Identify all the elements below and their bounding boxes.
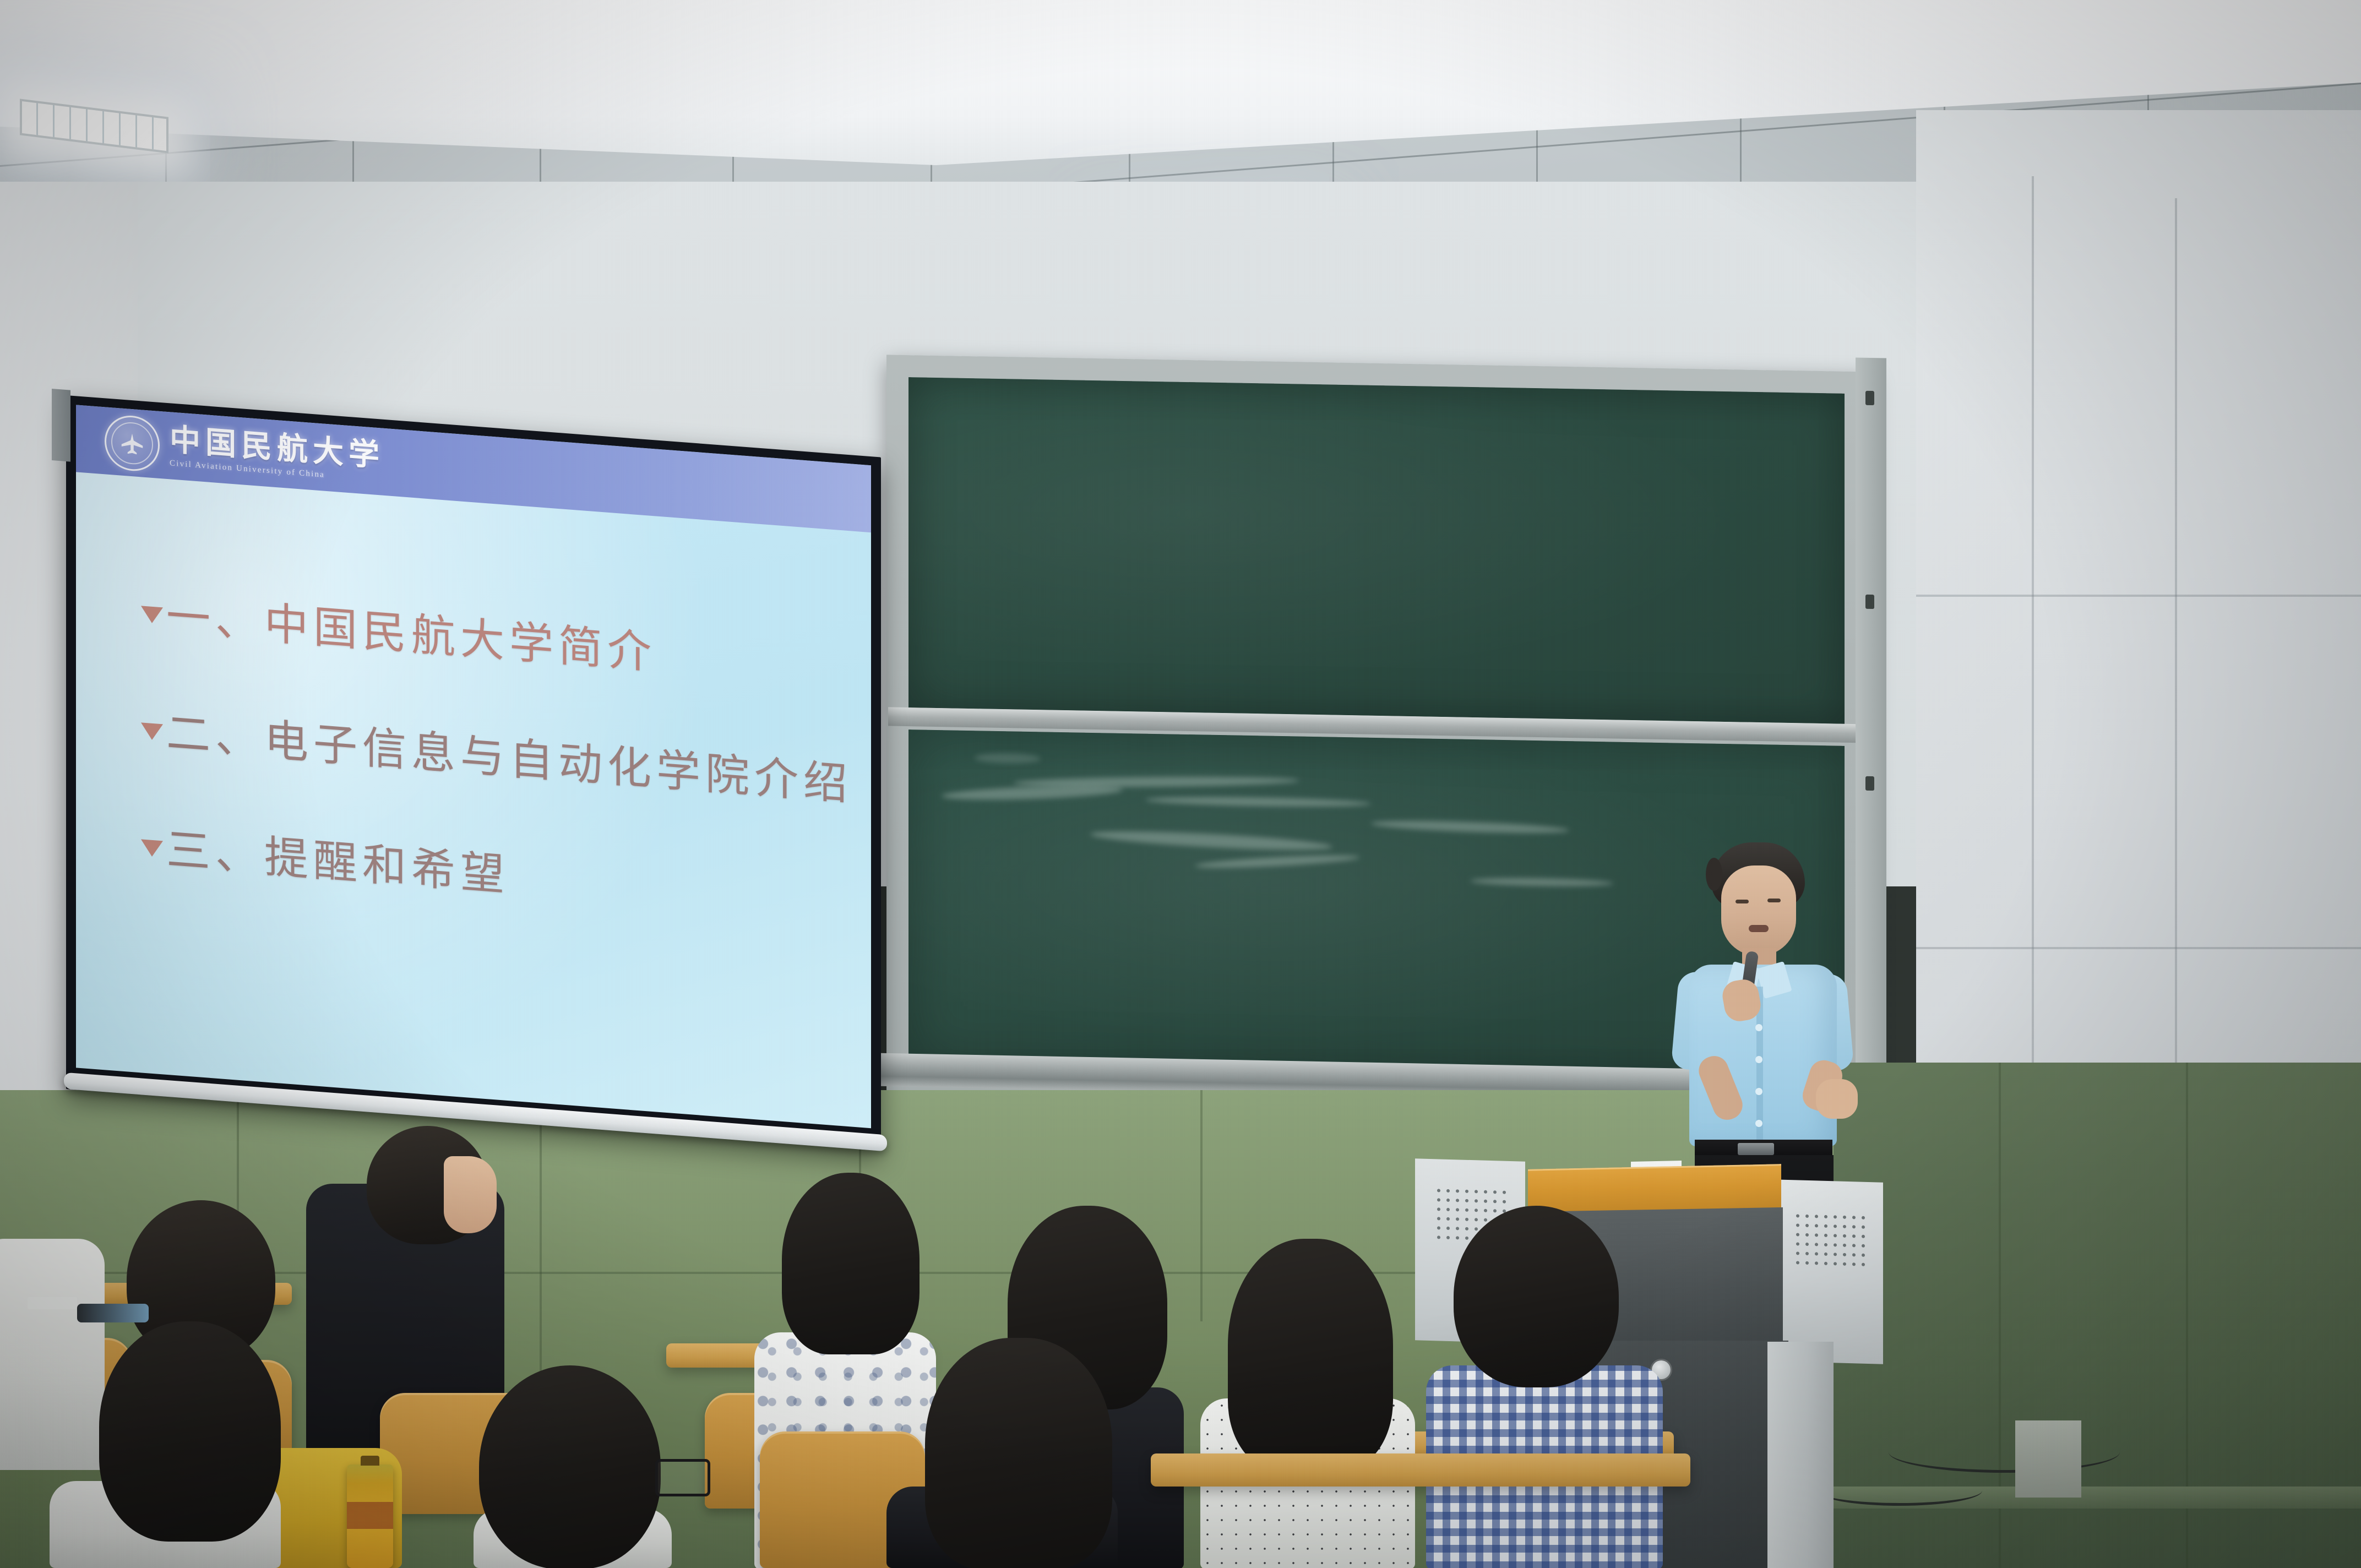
classroom-photo: 中国民航大学 Civil Aviation University of Chin… [0,0,2361,1568]
wall-outlet-box [2015,1420,2081,1498]
lectern-column [1767,1342,1834,1568]
projection-screen[interactable]: 中国民航大学 Civil Aviation University of Chin… [66,395,881,1151]
desk-front-right [1151,1453,1690,1487]
bullet-triangle-icon [141,839,163,857]
cauc-seal-airplane-icon [105,413,160,473]
slide-bullet-1-number: 一、 [166,594,264,647]
slide-canvas: 中国民航大学 Civil Aviation University of Chin… [76,405,871,1128]
slide-bullet-2: 二、 电子信息与自动化学院介绍 [141,708,855,809]
slide-bullet-2-number: 二、 [166,710,264,764]
presenter-right-hand [1816,1079,1858,1119]
blackboard-upper-panel [909,377,1845,724]
presenter-face [1721,865,1796,956]
speaker-grille-icon [1796,1214,1861,1266]
slide-bullet-3-text: 提醒和希望 [264,834,509,899]
person-head [1454,1206,1619,1387]
slide-bullet-3-number: 三、 [166,827,264,881]
person-head [925,1338,1112,1568]
person-torso [0,1239,105,1470]
bullet-triangle-icon [141,606,163,624]
desk-object-eyeglasses-icon [77,1304,149,1322]
person-head [1228,1239,1393,1470]
bottle-label [347,1502,393,1529]
person-head [782,1173,920,1354]
eyeglasses-icon [655,1459,710,1496]
person-face [444,1156,497,1233]
presenter-mouth [1749,925,1769,932]
slide-bullet-3: 三、 提醒和希望 [141,825,855,925]
lectern-right-panel [1773,1179,1883,1364]
slide-bullet-list: 一、 中国民航大学简介 二、 电子信息与自动化学院介绍 三、 提醒和希望 [141,591,855,996]
bullet-triangle-icon [141,722,163,741]
beverage-bottle [347,1464,393,1568]
desk-object-paper [28,1297,77,1309]
person-head [99,1321,281,1542]
right-wall-panel [1916,110,2361,1211]
person-head [479,1365,661,1568]
slide-bullet-2-text: 电子信息与自动化学院介绍 [264,717,852,808]
presenter [1641,842,1883,1200]
screen-bracket [52,389,70,462]
